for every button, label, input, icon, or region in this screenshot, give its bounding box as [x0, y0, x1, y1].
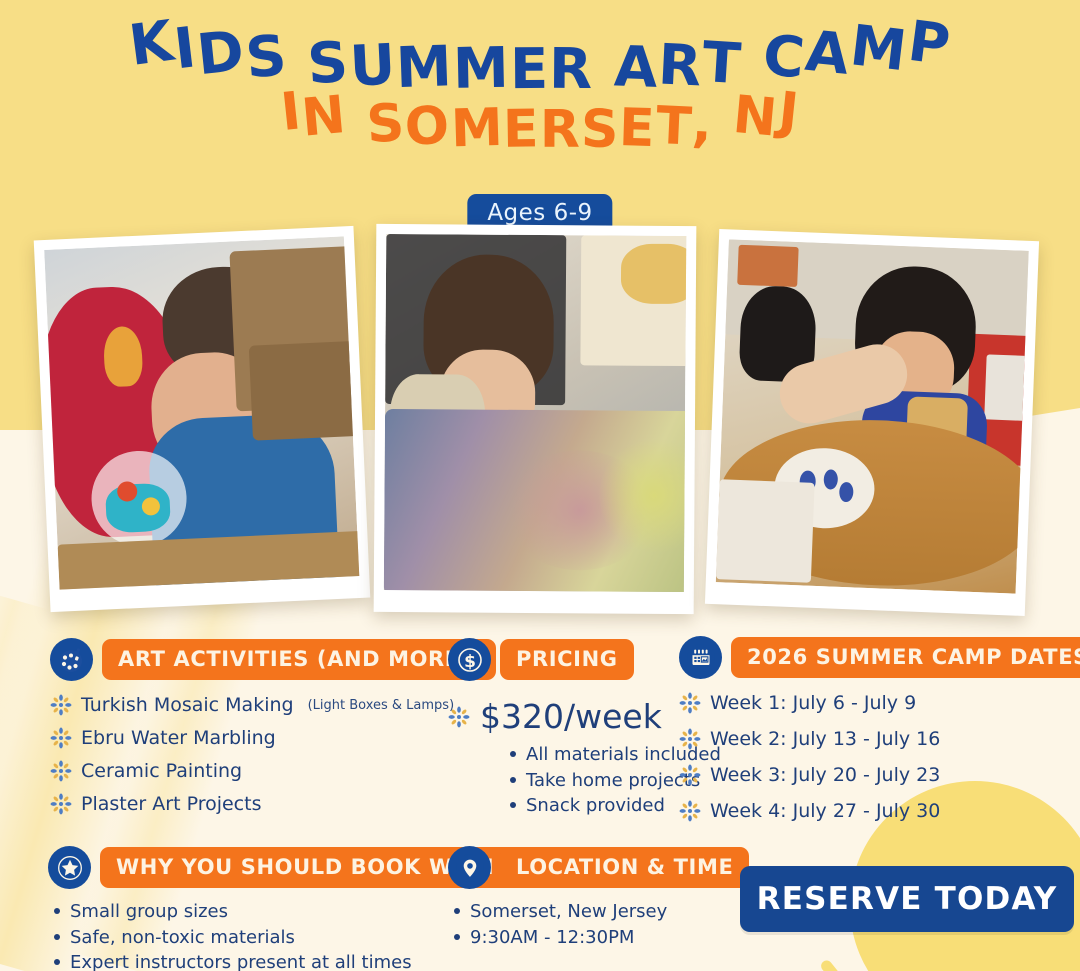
- list-item: Week 3: July 20 - July 23: [679, 764, 1080, 786]
- flower-bullet-icon: [50, 727, 72, 749]
- flower-bullet-icon: [50, 694, 72, 716]
- section-dates: 2026 SUMMER CAMP DATES Week 1: July 6 - …: [679, 636, 1080, 836]
- list-item-label: Week 3: July 20 - July 23: [710, 764, 940, 786]
- price-value: $320/week: [480, 697, 662, 736]
- photo-mosaic-lightbox: [34, 226, 371, 612]
- section-location: LOCATION & TIME Somerset, New Jersey9:30…: [448, 846, 749, 950]
- section-header: ART ACTIVITIES (AND MORE!): [50, 638, 496, 681]
- map-pin-icon: [448, 846, 491, 889]
- flower-bullet-icon: [50, 793, 72, 815]
- list-item: Week 2: July 13 - July 16: [679, 728, 1080, 750]
- section-title: PRICING: [500, 639, 634, 680]
- svg-text:$: $: [464, 652, 476, 672]
- photo-image: [44, 236, 359, 589]
- bullet-item: Expert instructors present at all times: [48, 950, 552, 971]
- reserve-today-button[interactable]: RESERVE TODAY: [740, 866, 1074, 932]
- dates-list: Week 1: July 6 - July 9Week 2: July 13 -…: [679, 692, 1080, 822]
- title-line-2: IN SOMERSET, NJ: [0, 104, 1080, 156]
- section-header: 2026 SUMMER CAMP DATES: [679, 636, 1080, 679]
- list-item-label: Plaster Art Projects: [81, 793, 261, 815]
- section-title: ART ACTIVITIES (AND MORE!): [102, 639, 496, 680]
- palette-icon: [50, 638, 93, 681]
- calendar-icon: [679, 636, 722, 679]
- flower-bullet-icon: [679, 692, 701, 714]
- section-activities: ART ACTIVITIES (AND MORE!) Turkish Mosai…: [50, 638, 496, 826]
- star-icon: [48, 846, 91, 889]
- bullet-item: 9:30AM - 12:30PM: [448, 925, 749, 951]
- flower-bullet-icon: [679, 764, 701, 786]
- list-item: Ceramic Painting: [50, 760, 496, 782]
- photo-ebru-marbling: [374, 224, 697, 614]
- section-title: 2026 SUMMER CAMP DATES: [731, 637, 1080, 678]
- list-item: Plaster Art Projects: [50, 793, 496, 815]
- flower-bullet-icon: [448, 706, 470, 728]
- list-item-sublabel: (Light Boxes & Lamps): [308, 698, 455, 713]
- list-item-label: Turkish Mosaic Making: [81, 694, 294, 716]
- list-item-label: Ceramic Painting: [81, 760, 242, 782]
- flower-bullet-icon: [679, 728, 701, 750]
- list-item-label: Week 4: July 27 - July 30: [710, 800, 940, 822]
- list-item: Week 1: July 6 - July 9: [679, 692, 1080, 714]
- reserve-button-label: RESERVE TODAY: [757, 881, 1058, 917]
- section-header: LOCATION & TIME: [448, 846, 749, 889]
- dollar-icon: $: [448, 638, 491, 681]
- flower-bullet-icon: [679, 800, 701, 822]
- location-bullets: Somerset, New Jersey9:30AM - 12:30PM: [448, 899, 749, 950]
- photo-ceramic-painting: [705, 229, 1039, 616]
- list-item-label: Ebru Water Marbling: [81, 727, 276, 749]
- header: KIDS SUMMER ART CAMP IN SOMERSET, NJ Age…: [0, 0, 1080, 240]
- list-item: Ebru Water Marbling: [50, 727, 496, 749]
- flower-bullet-icon: [50, 760, 72, 782]
- photo-image: [716, 239, 1029, 593]
- list-item: Turkish Mosaic Making(Light Boxes & Lamp…: [50, 694, 496, 716]
- section-title: LOCATION & TIME: [500, 847, 749, 888]
- photo-gallery: [0, 225, 1080, 620]
- list-item-label: Week 2: July 13 - July 16: [710, 728, 940, 750]
- title-line-1: KIDS SUMMER ART CAMP: [0, 42, 1080, 98]
- list-item: Week 4: July 27 - July 30: [679, 800, 1080, 822]
- list-item-label: Week 1: July 6 - July 9: [710, 692, 916, 714]
- activities-list: Turkish Mosaic Making(Light Boxes & Lamp…: [50, 694, 496, 815]
- photo-image: [384, 234, 686, 592]
- bullet-item: Somerset, New Jersey: [448, 899, 749, 925]
- page-title: KIDS SUMMER ART CAMP IN SOMERSET, NJ: [0, 42, 1080, 156]
